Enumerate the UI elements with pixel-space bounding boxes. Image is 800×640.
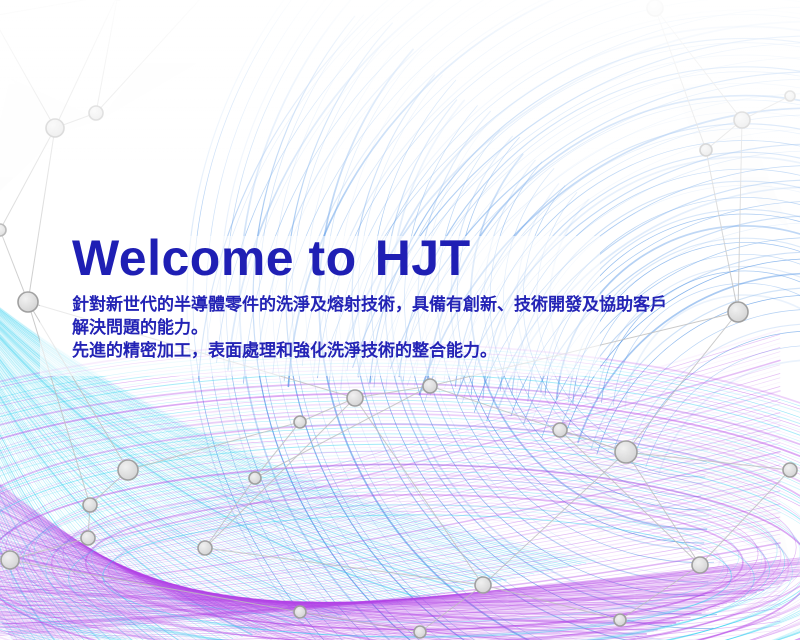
page-title: Welcome toHJT [72,232,772,284]
welcome-banner: Welcome toHJT 針對新世代的半導體零件的洗淨及熔射技術，具備有創新、… [0,0,800,640]
description-line-2: 解決問題的能力。 [72,317,772,340]
headline-brand: HJT [375,230,471,286]
elliptical-ribbons [0,343,800,640]
hero-content: Welcome toHJT 針對新世代的半導體零件的洗淨及熔射技術，具備有創新、… [72,232,772,363]
headline-greeting: Welcome to [72,230,357,286]
purple-wave-bundle [0,330,800,640]
description-line-3: 先進的精密加工，表面處理和強化洗淨技術的整合能力。 [72,340,772,363]
hero-description: 針對新世代的半導體零件的洗淨及熔射技術，具備有創新、技術開發及協助客戶 解決問題… [72,294,772,363]
description-line-1: 針對新世代的半導體零件的洗淨及熔射技術，具備有創新、技術開發及協助客戶 [72,294,772,317]
